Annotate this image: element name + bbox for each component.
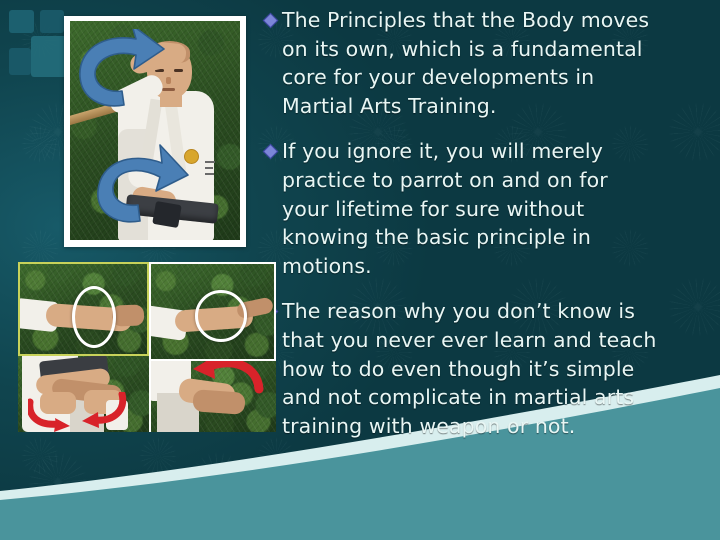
deco-square-4 xyxy=(9,48,31,75)
deco-square-2 xyxy=(40,10,64,33)
bullet-item-3: The reason why you don’t know is that yo… xyxy=(258,297,718,440)
diamond-bullet-icon xyxy=(258,6,282,26)
blue-arrow-lower-icon xyxy=(88,133,192,229)
blue-arrow-upper-icon xyxy=(72,29,170,121)
red-arrow-icon-right xyxy=(72,392,128,430)
presentation-slide: The Principles that the Body moves on it… xyxy=(0,0,720,540)
martial-arts-instructor-photo xyxy=(64,16,246,247)
deco-square-1 xyxy=(9,10,34,33)
diamond-bullet-icon xyxy=(258,137,282,157)
crossed-hands-photo-3 xyxy=(18,356,149,432)
bullet-text-2: If you ignore it, you will merely practi… xyxy=(282,137,718,280)
forearm-rotation-photo-1 xyxy=(18,262,149,356)
bullet-text-1: The Principles that the Body moves on it… xyxy=(282,6,718,120)
bullet-item-1: The Principles that the Body moves on it… xyxy=(258,6,718,120)
slide-body-text: The Principles that the Body moves on it… xyxy=(258,6,718,440)
forearm-rotation-photo-2 xyxy=(149,262,276,361)
bullet-text-3: The reason why you don’t know is that yo… xyxy=(282,297,718,440)
photo-grid xyxy=(18,262,276,432)
open-hand-photo-4 xyxy=(149,361,276,432)
red-arrow-icon-top xyxy=(173,361,265,395)
bullet-item-2: If you ignore it, you will merely practi… xyxy=(258,137,718,280)
